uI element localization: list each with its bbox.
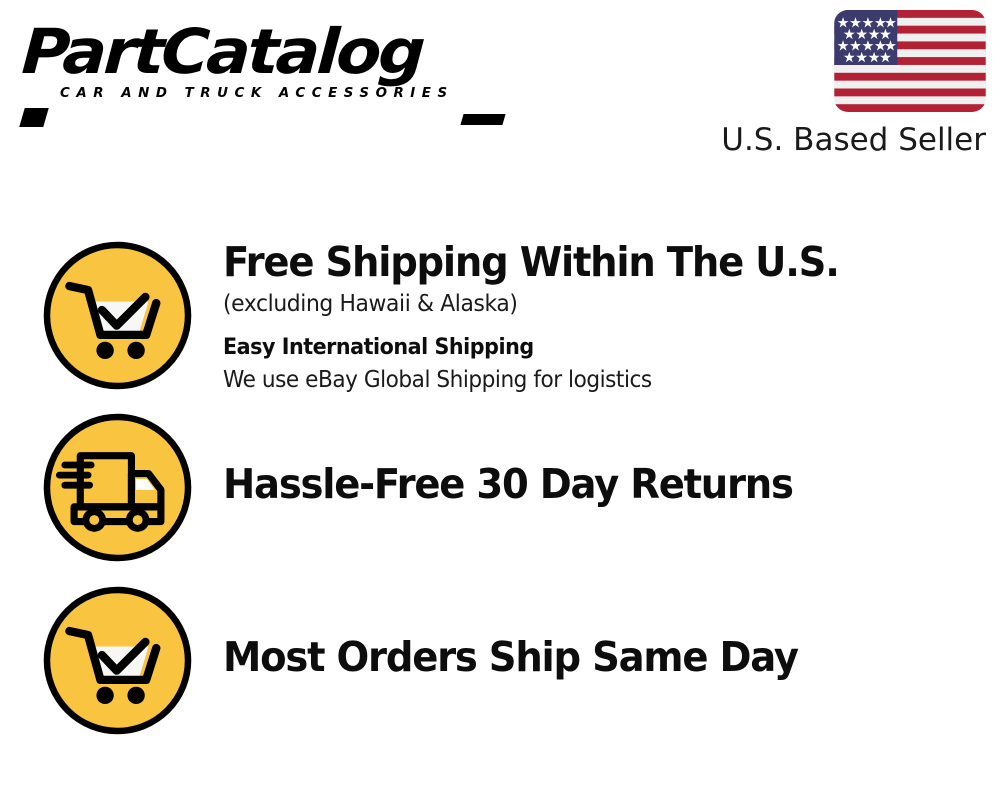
brand-logo: PartCatalog CAR AND TRUCK ACCESSORIES	[22, 22, 492, 101]
header: PartCatalog CAR AND TRUCK ACCESSORIES	[0, 0, 1000, 180]
delivery-truck-icon	[40, 410, 195, 565]
shopping-cart-check-icon	[40, 238, 195, 393]
feature-heading: Free Shipping Within The U.S.	[223, 240, 839, 284]
feature-note: We use eBay Global Shipping for logistic…	[223, 367, 839, 395]
feature-subheading: Easy International Shipping	[223, 335, 839, 361]
promo-banner: PartCatalog CAR AND TRUCK ACCESSORIES	[0, 0, 1000, 800]
logo-accent-right	[460, 114, 505, 125]
feature-heading: Hassle-Free 30 Day Returns	[223, 462, 793, 506]
feature-item: Most Orders Ship Same Day	[40, 583, 970, 738]
feature-heading: Most Orders Ship Same Day	[223, 635, 798, 679]
feature-subtitle: (excluding Hawaii & Alaska)	[223, 291, 845, 319]
us-flag-icon	[834, 10, 986, 112]
brand-tagline: CAR AND TRUCK ACCESSORIES	[60, 85, 488, 101]
seller-badge: U.S. Based Seller	[716, 10, 986, 157]
feature-text: Hassle-Free 30 Day Returns	[223, 460, 829, 506]
feature-item: Hassle-Free 30 Day Returns	[40, 410, 970, 565]
seller-badge-label: U.S. Based Seller	[716, 123, 986, 157]
feature-text: Most Orders Ship Same Day	[223, 633, 834, 679]
logo-accent-left	[19, 108, 48, 127]
feature-item: Free Shipping Within The U.S. (excluding…	[40, 238, 970, 395]
shopping-cart-check-icon	[40, 583, 195, 738]
brand-name: PartCatalog	[20, 22, 522, 83]
feature-text: Free Shipping Within The U.S. (excluding…	[223, 238, 878, 395]
